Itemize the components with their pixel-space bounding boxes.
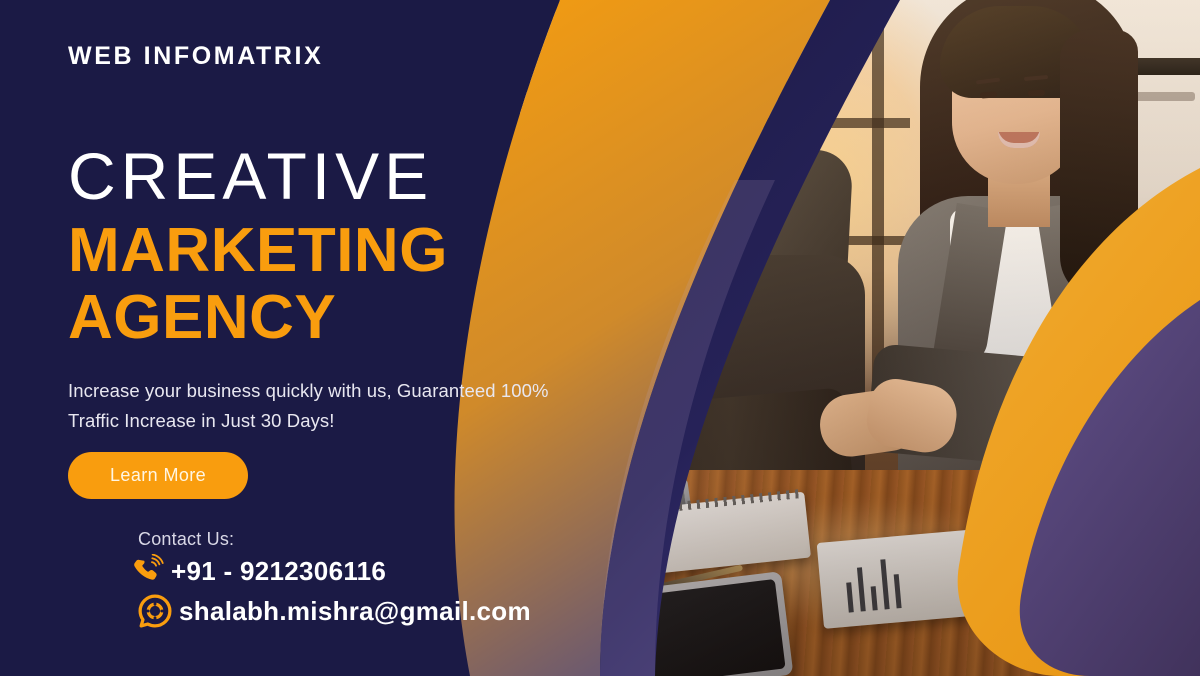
contact-phone-row[interactable]: +91 - 9212306116 [130, 554, 620, 588]
marketing-banner: WEB INFOMATRIX CREATIVE MARKETING AGENCY… [0, 0, 1200, 676]
contact-email-row[interactable]: shalabh.mishra@gmail.com [138, 594, 620, 628]
contact-phone-number: +91 - 9212306116 [171, 556, 386, 587]
content-column: WEB INFOMATRIX CREATIVE MARKETING AGENCY… [0, 0, 620, 676]
contact-email-address: shalabh.mishra@gmail.com [179, 596, 531, 627]
headline-line-creative: CREATIVE [68, 143, 620, 210]
contact-block: Contact Us: +91 - 9212306116 shalabh.mis… [130, 529, 620, 628]
chat-circle-icon [138, 594, 172, 628]
brand-logo: WEB INFOMATRIX [68, 44, 620, 69]
headline-line-marketing: MARKETING [68, 218, 620, 285]
headline-group: CREATIVE MARKETING AGENCY [68, 143, 620, 352]
subtitle-text: Increase your business quickly with us, … [68, 376, 588, 436]
phone-ringing-icon [130, 554, 164, 588]
contact-label: Contact Us: [138, 529, 620, 550]
learn-more-button[interactable]: Learn More [68, 452, 248, 499]
headline-line-agency: AGENCY [68, 285, 620, 352]
